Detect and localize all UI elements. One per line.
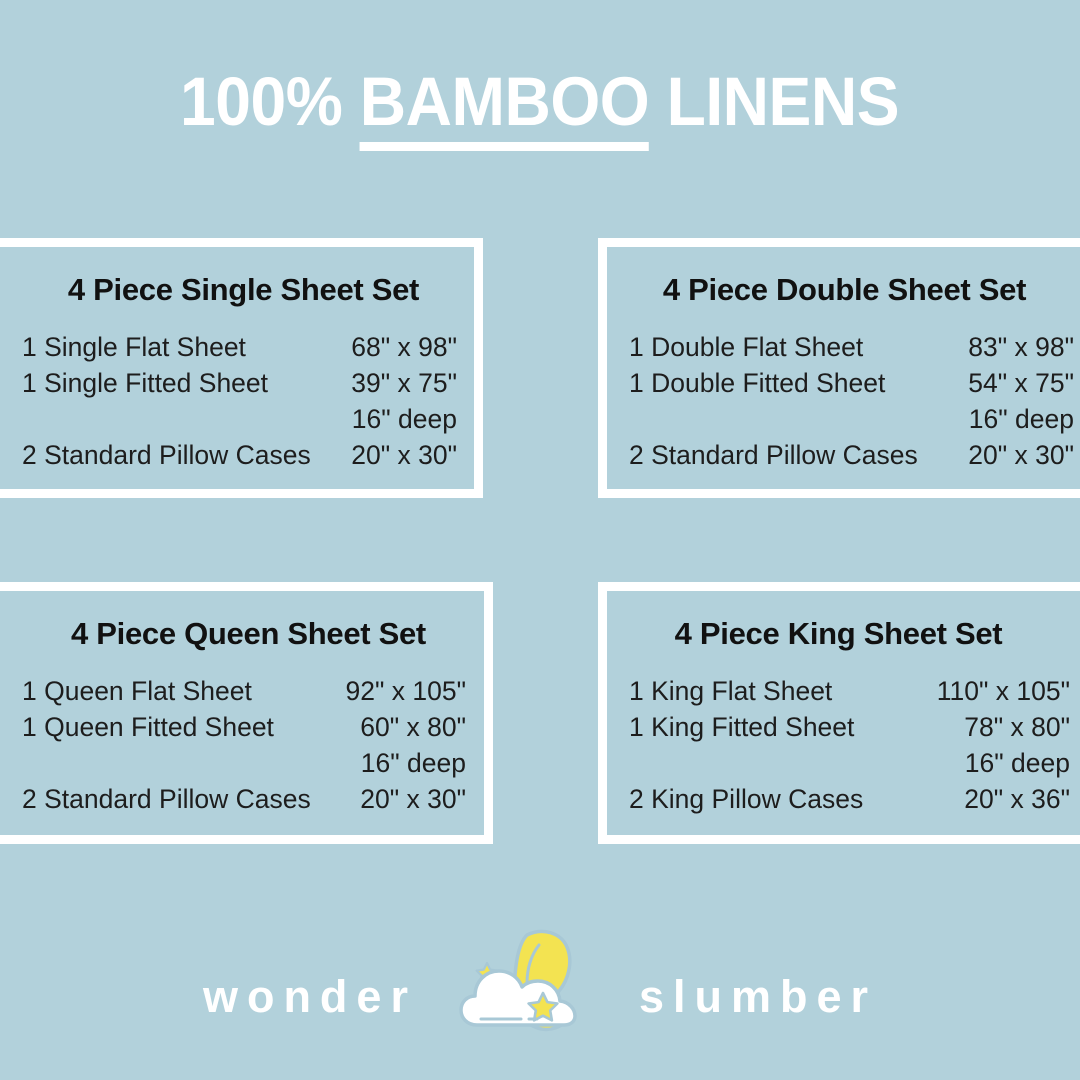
moon-cloud-stars-icon: [457, 923, 597, 1043]
product-card-single: 4 Piece Single Sheet Set 1 Single Flat S…: [0, 238, 483, 498]
product-card-king: 4 Piece King Sheet Set 1 King Flat Sheet…: [598, 582, 1080, 844]
table-row: 1 Single Fitted Sheet 39" x 75": [22, 365, 457, 401]
row-value: 54" x 75": [968, 365, 1074, 401]
card-rows: 1 Queen Flat Sheet 92" x 105" 1 Queen Fi…: [0, 673, 484, 817]
brand-word-wonder: wonder: [203, 944, 417, 1022]
table-row: 1 Single Flat Sheet 68" x 98": [22, 329, 457, 365]
row-label: 1 Double Fitted Sheet: [629, 365, 885, 401]
row-label: 2 Standard Pillow Cases: [22, 781, 311, 817]
card-inner: 4 Piece Single Sheet Set 1 Single Flat S…: [0, 247, 474, 489]
table-row: 2 Standard Pillow Cases 20" x 30": [22, 781, 466, 817]
table-row: 1 Queen Flat Sheet 92" x 105": [22, 673, 466, 709]
table-row: 16" deep: [22, 745, 466, 781]
table-row: 16" deep: [629, 401, 1074, 437]
card-title: 4 Piece Double Sheet Set: [607, 272, 1080, 308]
row-value: 92" x 105": [346, 673, 466, 709]
row-label: 1 Single Flat Sheet: [22, 329, 246, 365]
table-row: 1 King Fitted Sheet 78" x 80": [629, 709, 1070, 745]
card-title: 4 Piece Single Sheet Set: [0, 272, 474, 308]
row-value: 20" x 30": [351, 437, 457, 473]
card-rows: 1 Double Flat Sheet 83" x 98" 1 Double F…: [607, 329, 1080, 473]
row-label: 2 Standard Pillow Cases: [629, 437, 918, 473]
row-label: 2 Standard Pillow Cases: [22, 437, 311, 473]
row-value: 16" deep: [361, 745, 466, 781]
table-row: 2 Standard Pillow Cases 20" x 30": [22, 437, 457, 473]
product-card-double: 4 Piece Double Sheet Set 1 Double Flat S…: [598, 238, 1080, 498]
header: 100% BAMBOO LINENS: [0, 62, 1080, 142]
table-row: 1 Queen Fitted Sheet 60" x 80": [22, 709, 466, 745]
row-value: 16" deep: [969, 401, 1074, 437]
table-row: 2 King Pillow Cases 20" x 36": [629, 781, 1070, 817]
table-row: 1 Double Fitted Sheet 54" x 75": [629, 365, 1074, 401]
card-inner: 4 Piece King Sheet Set 1 King Flat Sheet…: [607, 591, 1080, 835]
product-card-queen: 4 Piece Queen Sheet Set 1 Queen Flat She…: [0, 582, 493, 844]
row-label: 1 Double Flat Sheet: [629, 329, 863, 365]
table-row: 1 King Flat Sheet 110" x 105": [629, 673, 1070, 709]
row-value: 60" x 80": [360, 709, 466, 745]
row-value: 83" x 98": [968, 329, 1074, 365]
row-value: 20" x 30": [360, 781, 466, 817]
card-title: 4 Piece King Sheet Set: [607, 616, 1080, 652]
table-row: 16" deep: [629, 745, 1070, 781]
row-value: 68" x 98": [351, 329, 457, 365]
brand-word-slumber: slumber: [639, 944, 877, 1022]
row-value: 16" deep: [352, 401, 457, 437]
brand-logo: wonder slumber: [0, 918, 1080, 1048]
row-label: 2 King Pillow Cases: [629, 781, 863, 817]
row-value: 39" x 75": [351, 365, 457, 401]
card-rows: 1 Single Flat Sheet 68" x 98" 1 Single F…: [0, 329, 474, 473]
card-inner: 4 Piece Double Sheet Set 1 Double Flat S…: [607, 247, 1080, 489]
row-label: 1 King Fitted Sheet: [629, 709, 854, 745]
card-title: 4 Piece Queen Sheet Set: [0, 616, 484, 652]
card-inner: 4 Piece Queen Sheet Set 1 Queen Flat She…: [0, 591, 484, 835]
row-label: 1 Queen Flat Sheet: [22, 673, 252, 709]
row-value: 16" deep: [965, 745, 1070, 781]
page-title: 100% BAMBOO LINENS: [180, 62, 899, 142]
row-label: 1 Single Fitted Sheet: [22, 365, 268, 401]
row-value: 20" x 30": [968, 437, 1074, 473]
title-prefix: 100%: [180, 63, 360, 140]
row-label: 1 Queen Fitted Sheet: [22, 709, 274, 745]
row-value: 110" x 105": [937, 673, 1070, 709]
row-value: 78" x 80": [964, 709, 1070, 745]
table-row: 2 Standard Pillow Cases 20" x 30": [629, 437, 1074, 473]
table-row: 16" deep: [22, 401, 457, 437]
title-underlined-word: BAMBOO: [360, 63, 650, 142]
table-row: 1 Double Flat Sheet 83" x 98": [629, 329, 1074, 365]
title-suffix: LINENS: [650, 63, 900, 140]
card-rows: 1 King Flat Sheet 110" x 105" 1 King Fit…: [607, 673, 1080, 817]
row-value: 20" x 36": [964, 781, 1070, 817]
row-label: 1 King Flat Sheet: [629, 673, 832, 709]
